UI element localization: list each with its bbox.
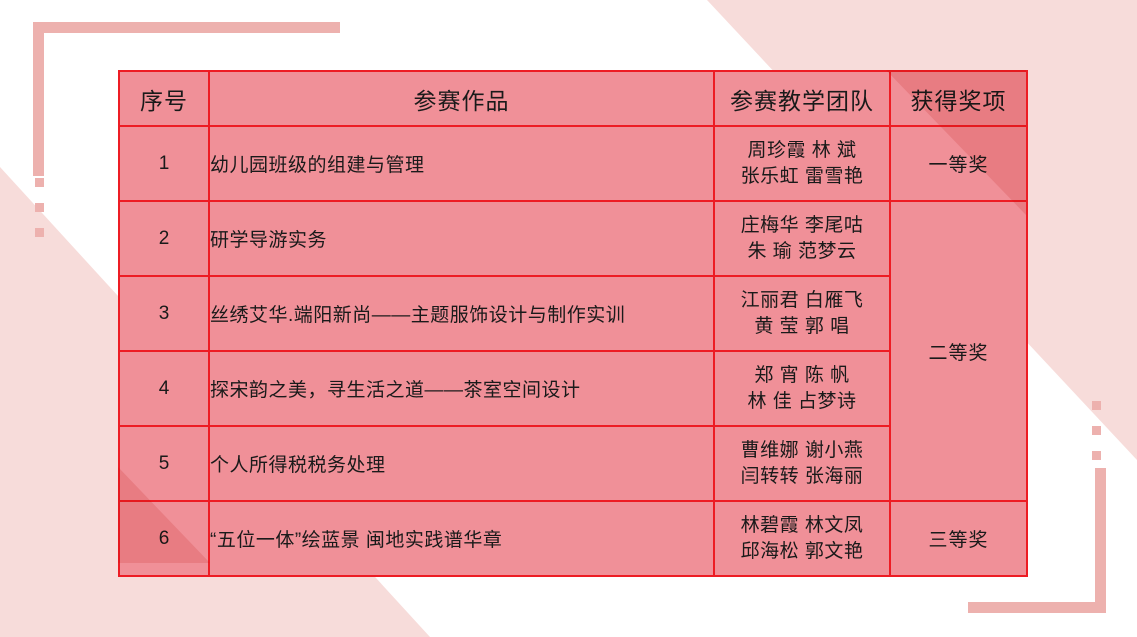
cell-work: 个人所得税税务处理: [209, 426, 714, 501]
dot-icon: [35, 203, 44, 212]
cell-no: 6: [119, 501, 209, 576]
table-header-row: 序号 参赛作品 参赛教学团队 获得奖项: [119, 71, 1027, 126]
cell-team: 郑 宵 陈 帆 林 佳 占梦诗: [714, 351, 890, 426]
column-header-no: 序号: [119, 71, 209, 126]
dot-icon: [1092, 426, 1101, 435]
dot-icon: [35, 178, 44, 187]
cell-no: 5: [119, 426, 209, 501]
cell-award: 一等奖: [890, 126, 1027, 201]
cell-no: 1: [119, 126, 209, 201]
cell-no: 2: [119, 201, 209, 276]
cell-team: 江丽君 白雁飞 黄 莹 郭 唱: [714, 276, 890, 351]
cell-award: 二等奖: [890, 201, 1027, 501]
dot-icon: [1092, 401, 1101, 410]
cell-work: “五位一体”绘蓝景 闽地实践谱华章: [209, 501, 714, 576]
cell-no: 3: [119, 276, 209, 351]
cell-work: 研学导游实务: [209, 201, 714, 276]
cell-award: 三等奖: [890, 501, 1027, 576]
slide-canvas: 序号 参赛作品 参赛教学团队 获得奖项 1 幼儿园班级的组建与管理 周珍霞 林 …: [0, 0, 1137, 637]
cell-team: 林碧霞 林文凤 邱海松 郭文艳: [714, 501, 890, 576]
dot-icon: [1092, 451, 1101, 460]
table-row: 1 幼儿园班级的组建与管理 周珍霞 林 斌 张乐虹 雷雪艳 一等奖: [119, 126, 1027, 201]
cell-team: 曹维娜 谢小燕 闫转转 张海丽: [714, 426, 890, 501]
dot-accents-right: [1092, 401, 1101, 460]
column-header-work: 参赛作品: [209, 71, 714, 126]
cell-work: 探宋韵之美，寻生活之道——茶室空间设计: [209, 351, 714, 426]
cell-no: 4: [119, 351, 209, 426]
column-header-award: 获得奖项: [890, 71, 1027, 126]
dot-icon: [35, 228, 44, 237]
cell-team: 庄梅华 李尾咕 朱 瑜 范梦云: [714, 201, 890, 276]
cell-work: 幼儿园班级的组建与管理: [209, 126, 714, 201]
cell-work: 丝绣艾华.端阳新尚——主题服饰设计与制作实训: [209, 276, 714, 351]
table-row: 6 “五位一体”绘蓝景 闽地实践谱华章 林碧霞 林文凤 邱海松 郭文艳 三等奖: [119, 501, 1027, 576]
column-header-team: 参赛教学团队: [714, 71, 890, 126]
award-table: 序号 参赛作品 参赛教学团队 获得奖项 1 幼儿园班级的组建与管理 周珍霞 林 …: [118, 70, 1028, 577]
cell-team: 周珍霞 林 斌 张乐虹 雷雪艳: [714, 126, 890, 201]
dot-accents-left: [35, 178, 44, 237]
table-header: 序号 参赛作品 参赛教学团队 获得奖项: [119, 71, 1027, 126]
table-body: 1 幼儿园班级的组建与管理 周珍霞 林 斌 张乐虹 雷雪艳 一等奖 2 研学导游…: [119, 126, 1027, 576]
table-row: 2 研学导游实务 庄梅华 李尾咕 朱 瑜 范梦云 二等奖: [119, 201, 1027, 276]
award-table-container: 序号 参赛作品 参赛教学团队 获得奖项 1 幼儿园班级的组建与管理 周珍霞 林 …: [118, 70, 1026, 563]
